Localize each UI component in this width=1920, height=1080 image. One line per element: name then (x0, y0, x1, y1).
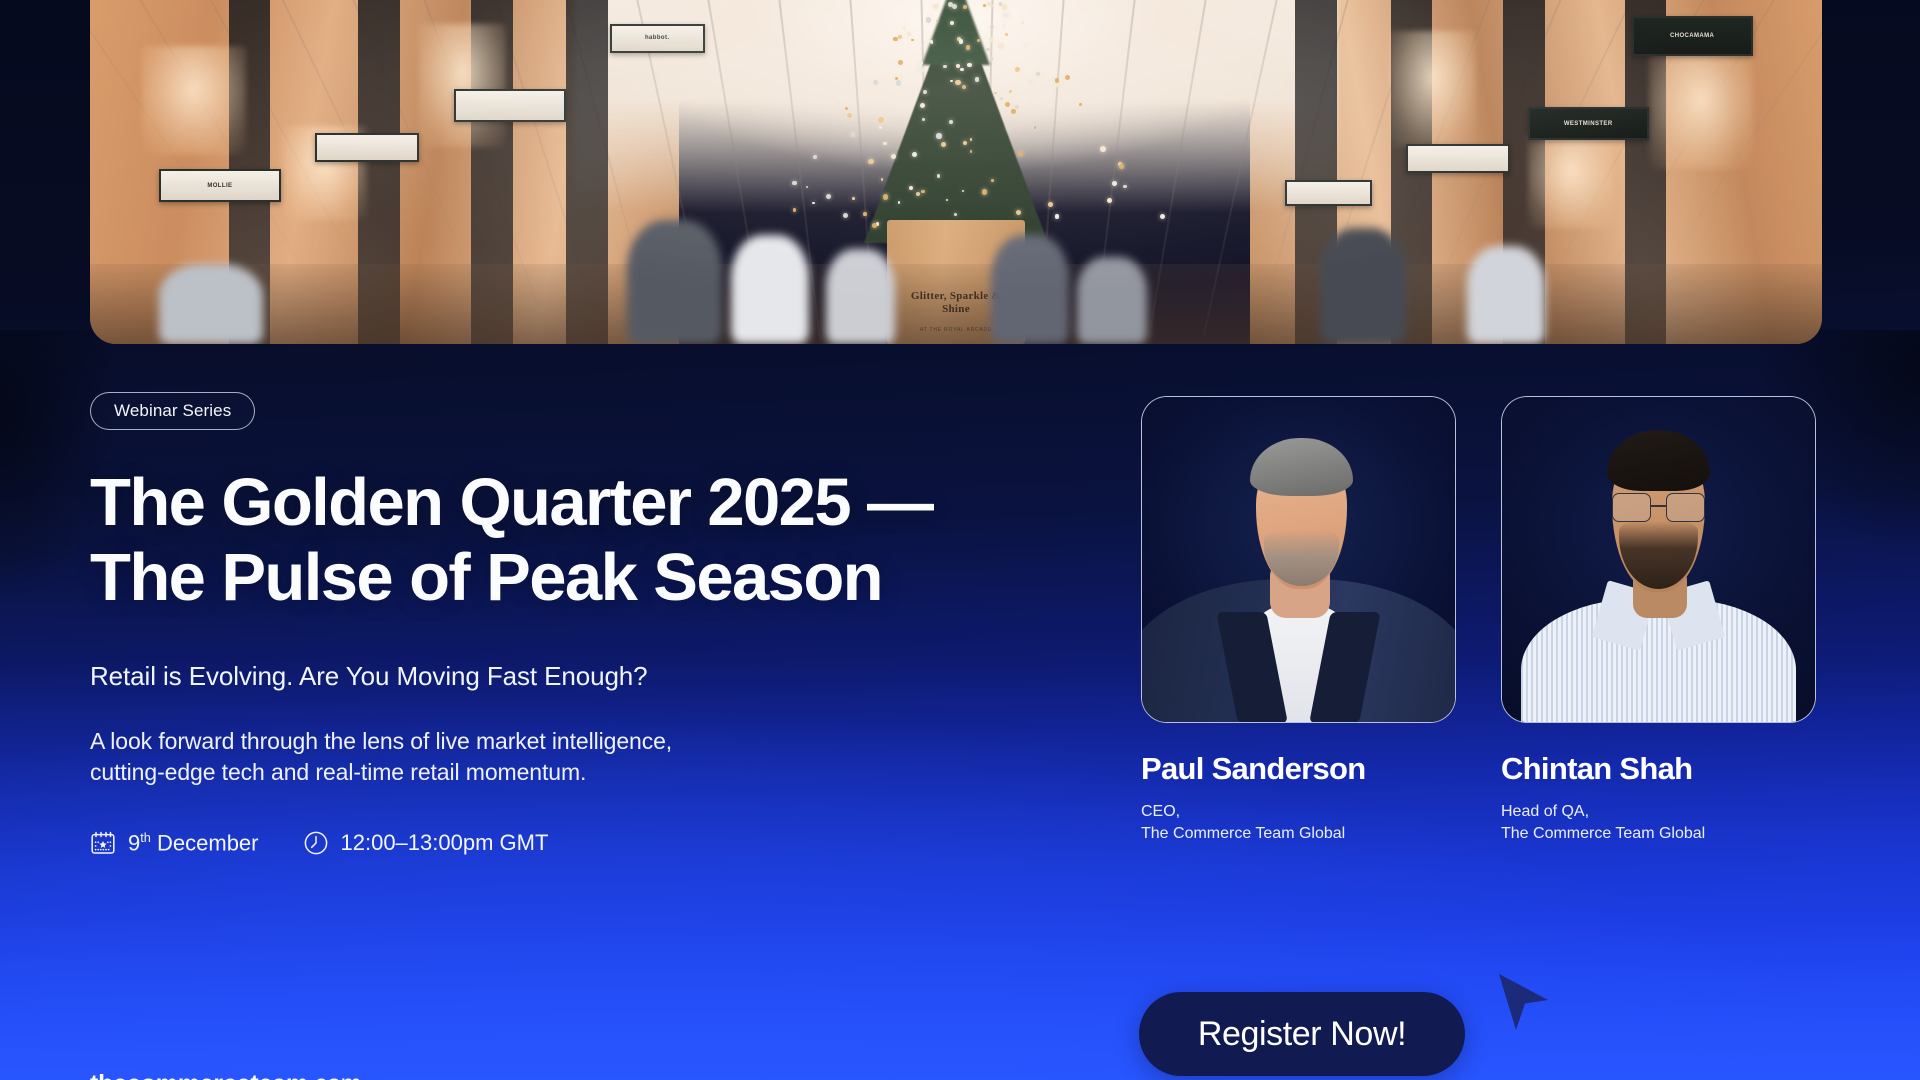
event-time: 12:00–13:00pm GMT (303, 830, 549, 856)
event-date: 9th December (90, 830, 259, 856)
speaker-role-line-1: CEO, (1141, 801, 1456, 823)
speaker-card-paul-sanderson: Paul Sanderson CEO, The Commerce Team Gl… (1141, 396, 1456, 845)
event-time-text: 12:00–13:00pm GMT (341, 830, 549, 856)
website-url-tld: .com (308, 1070, 361, 1080)
mouse-cursor-icon (1496, 970, 1552, 1036)
speaker-role-line-1: Head of QA, (1501, 801, 1816, 823)
date-ordinal: th (140, 830, 151, 845)
website-url[interactable]: thecommerceteam.com (90, 1070, 361, 1080)
website-url-bold: thecommerceteam (90, 1070, 308, 1080)
speaker-role: Head of QA, The Commerce Team Global (1501, 801, 1816, 845)
avatar (1502, 397, 1815, 722)
speaker-role-line-2: The Commerce Team Global (1501, 823, 1816, 845)
calendar-icon (90, 830, 116, 856)
webinar-series-badge: Webinar Series (90, 392, 255, 430)
event-date-text: 9th December (128, 830, 259, 856)
date-month: December (157, 830, 258, 855)
page-title: The Golden Quarter 2025 — The Pulse of P… (90, 466, 1090, 615)
arcade-photo: Glitter, Sparkle & Shine AT THE ROYAL AR… (90, 0, 1822, 344)
speaker-name: Chintan Shah (1501, 751, 1816, 787)
body-line-1: A look forward through the lens of live … (90, 726, 910, 757)
event-meta-row: 9th December 12:00–13:00pm GMT (90, 830, 1090, 856)
date-number: 9 (128, 830, 140, 855)
body-copy: A look forward through the lens of live … (90, 726, 910, 788)
speaker-name: Paul Sanderson (1141, 751, 1456, 787)
register-now-button[interactable]: Register Now! (1139, 992, 1465, 1076)
subheadline: Retail is Evolving. Are You Moving Fast … (90, 661, 1090, 692)
headline-line-1: The Golden Quarter 2025 — (90, 465, 932, 540)
speaker-role-line-2: The Commerce Team Global (1141, 823, 1456, 845)
speaker-role: CEO, The Commerce Team Global (1141, 801, 1456, 845)
speaker-photo-frame (1501, 396, 1816, 723)
body-line-2: cutting-edge tech and real-time retail m… (90, 757, 910, 788)
glasses-icon (1612, 493, 1706, 522)
hero-content: Webinar Series The Golden Quarter 2025 —… (90, 392, 1090, 856)
speaker-card-chintan-shah: Chintan Shah Head of QA, The Commerce Te… (1501, 396, 1816, 845)
hero-warm-overlay (90, 0, 1822, 344)
headline-line-2: The Pulse of Peak Season (90, 541, 1090, 616)
avatar (1142, 397, 1455, 722)
speaker-photo-frame (1141, 396, 1456, 723)
clock-icon (303, 830, 329, 856)
hero-banner-image: Glitter, Sparkle & Shine AT THE ROYAL AR… (90, 0, 1822, 344)
speakers-list: Paul Sanderson CEO, The Commerce Team Gl… (1141, 396, 1816, 845)
